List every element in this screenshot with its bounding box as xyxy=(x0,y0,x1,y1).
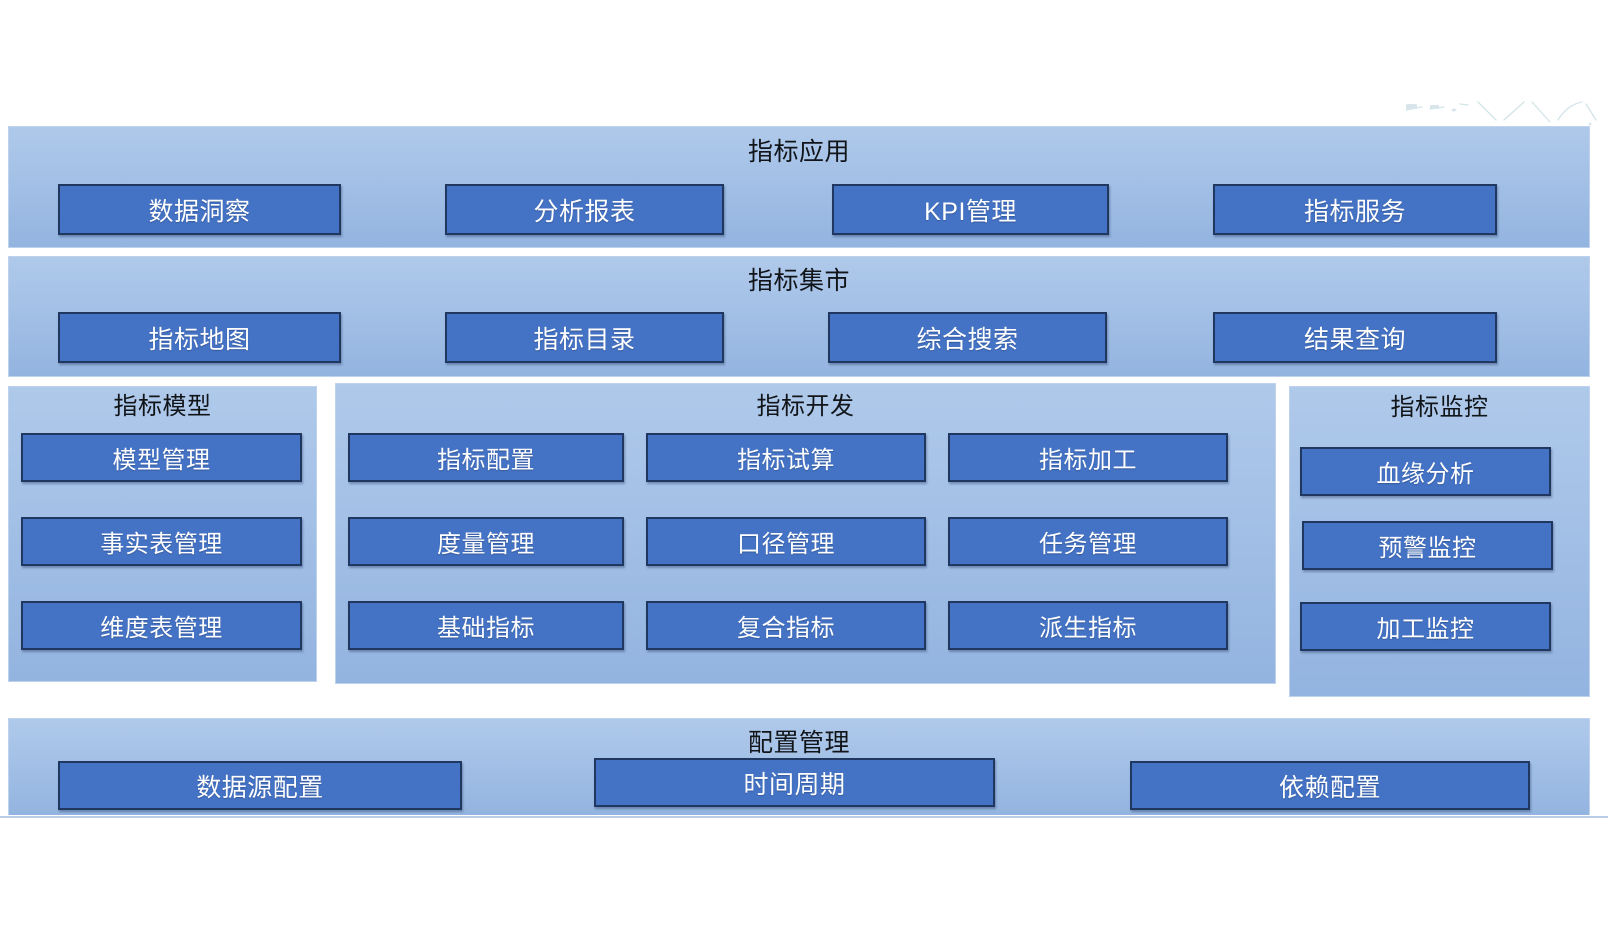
button-indicator-map[interactable]: 指标地图 xyxy=(58,312,341,363)
bottom-edge-line xyxy=(0,816,1608,818)
button-composite-indicator[interactable]: 复合指标 xyxy=(646,601,926,650)
button-measure-management[interactable]: 度量管理 xyxy=(348,517,624,566)
section-title-indicator-marketplace: 指标集市 xyxy=(9,266,1589,296)
button-datasource-config[interactable]: 数据源配置 xyxy=(58,761,462,810)
section-title-indicator-monitoring: 指标监控 xyxy=(1290,393,1589,423)
architecture-diagram: 指标应用 数据洞察 分析报表 KPI管理 指标服务 指标集市 指标地图 指标目录… xyxy=(0,0,1608,940)
button-indicator-trial-calculation[interactable]: 指标试算 xyxy=(646,433,926,482)
section-title-indicator-application: 指标应用 xyxy=(9,137,1589,167)
button-comprehensive-search[interactable]: 综合搜索 xyxy=(828,312,1107,363)
bottom-crop-area xyxy=(0,816,1608,940)
button-analysis-report[interactable]: 分析报表 xyxy=(445,184,724,235)
button-caliber-management[interactable]: 口径管理 xyxy=(646,517,926,566)
button-kpi-management[interactable]: KPI管理 xyxy=(832,184,1109,235)
section-title-indicator-development: 指标开发 xyxy=(336,392,1275,422)
button-model-management[interactable]: 模型管理 xyxy=(21,433,302,482)
button-indicator-processing[interactable]: 指标加工 xyxy=(948,433,1228,482)
button-dependency-config[interactable]: 依赖配置 xyxy=(1130,761,1530,810)
section-title-configuration-management: 配置管理 xyxy=(9,728,1589,758)
button-dimension-table-management[interactable]: 维度表管理 xyxy=(21,601,302,650)
button-basic-indicator[interactable]: 基础指标 xyxy=(348,601,624,650)
button-lineage-analysis[interactable]: 血缘分析 xyxy=(1300,447,1551,496)
button-indicator-config[interactable]: 指标配置 xyxy=(348,433,624,482)
button-derived-indicator[interactable]: 派生指标 xyxy=(948,601,1228,650)
button-time-period[interactable]: 时间周期 xyxy=(594,758,995,807)
button-processing-monitoring[interactable]: 加工监控 xyxy=(1300,602,1551,651)
button-result-query[interactable]: 结果查询 xyxy=(1213,312,1497,363)
button-indicator-service[interactable]: 指标服务 xyxy=(1213,184,1497,235)
button-fact-table-management[interactable]: 事实表管理 xyxy=(21,517,302,566)
section-title-indicator-model: 指标模型 xyxy=(9,392,316,422)
button-data-insight[interactable]: 数据洞察 xyxy=(58,184,341,235)
button-indicator-catalog[interactable]: 指标目录 xyxy=(445,312,724,363)
button-task-management[interactable]: 任务管理 xyxy=(948,517,1228,566)
button-alert-monitoring[interactable]: 预警监控 xyxy=(1302,521,1553,570)
